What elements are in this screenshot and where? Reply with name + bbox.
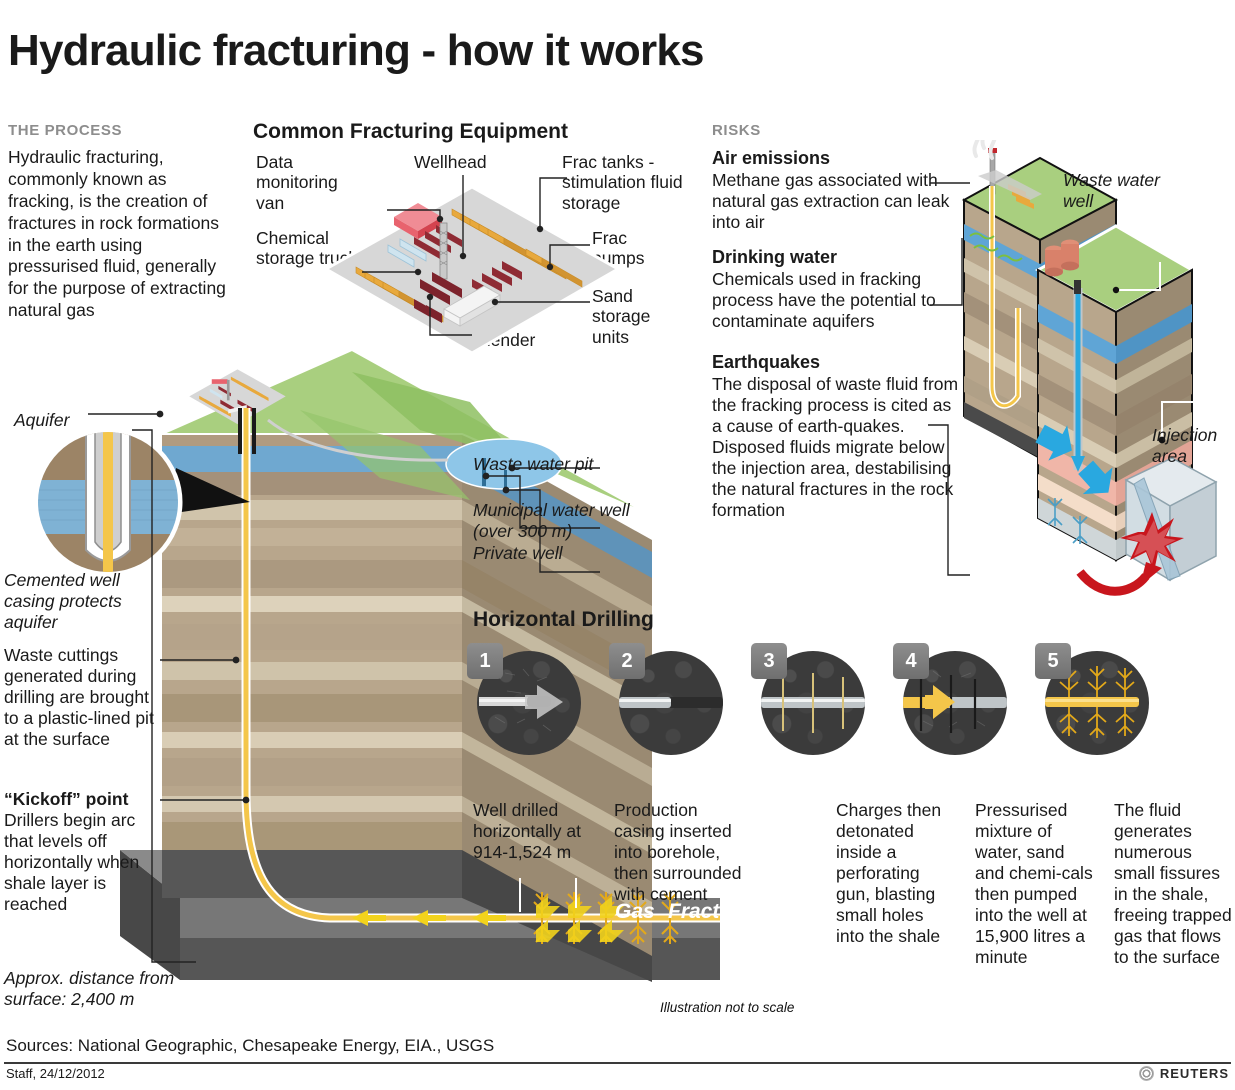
risk-earthquakes: Earthquakes The disposal of waste fluid … [712,352,964,521]
process-body: Hydraulic fracturing, commonly known as … [8,147,226,322]
risks-section: RISKS Air emissions Methane gas associat… [712,122,964,535]
kickoff-body: Drillers begin arc that levels off horiz… [4,810,139,914]
label-private-well: Private well [473,543,562,564]
drilling-step-2-figure: 2 [609,643,721,755]
scale-note: Illustration not to scale [660,1000,794,1015]
risk-body: Methane gas associated with natural gas … [712,170,964,233]
label-approx-distance: Approx. distance from surface: 2,400 m [4,968,214,1010]
process-kicker: THE PROCESS [8,122,226,139]
reuters-wordmark: REUTERS [1160,1066,1229,1081]
label-aquifer: Aquifer [14,410,69,431]
risk-3d-blocks-illustration [930,140,1235,630]
label-wellhead: Wellhead [414,152,487,172]
staff-credit: Staff, 24/12/2012 [6,1066,105,1081]
step-3-number: 3 [751,643,787,679]
sources-line: Sources: National Geographic, Chesapeake… [6,1036,494,1056]
label-waste-water-well: Waste water well [1063,170,1168,212]
step-1-number: 1 [467,643,503,679]
risk-title: Drinking water [712,247,964,268]
risk-body: Chemicals used in fracking process have … [712,269,964,332]
step-1-caption: Well drilled horizontally at 914-1,524 m [473,800,591,863]
risk-body: The disposal of waste fluid from the fra… [712,374,964,521]
equipment-heading: Common Fracturing Equipment [253,120,568,144]
label-waste-water-pit: Waste water pit [473,454,593,475]
drilling-step-5-figure: 5 [1035,643,1147,755]
step-2-caption: Production casing inserted into borehole… [614,800,744,905]
risk-title: Air emissions [712,148,964,169]
process-section: THE PROCESS Hydraulic fracturing, common… [8,122,226,322]
step-4-number: 4 [893,643,929,679]
reuters-logo: REUTERS [1139,1066,1229,1081]
risk-air-emissions: Air emissions Methane gas associated wit… [712,148,964,233]
equipment-site-illustration [322,183,622,358]
kickoff-title: “Kickoff” point [4,789,128,809]
label-kickoff-point: “Kickoff” point Drillers begin arc that … [4,789,164,915]
label-waste-cuttings: Waste cuttings generated during drilling… [4,645,154,750]
risks-kicker: RISKS [712,122,964,139]
footer-divider [4,1062,1231,1064]
label-cemented-well-casing: Cemented well casing protects aquifer [4,570,139,633]
label-injection-area: Injection area [1152,425,1232,467]
risk-title: Earthquakes [712,352,964,373]
drilling-step-1-figure: 1 [467,643,579,755]
label-municipal-water-well: Municipal water well (over 300 m) [473,500,673,542]
drilling-step-3-figure: 3 [751,643,863,755]
step-3-caption: Charges then detonated inside a perforat… [836,800,954,947]
horizontal-drilling-heading: Horizontal Drilling [473,608,654,632]
risk-drinking-water: Drinking water Chemicals used in frackin… [712,247,964,332]
step-2-number: 2 [609,643,645,679]
page-title: Hydraulic fracturing - how it works [8,26,704,76]
step-4-caption: Pressurised mixture of water, sand and c… [975,800,1093,968]
drilling-step-4-figure: 4 [893,643,1005,755]
step-5-caption: The fluid generates numerous small fissu… [1114,800,1232,968]
reuters-globe-icon [1139,1066,1154,1081]
infographic-page: Hydraulic fracturing - how it works THE … [0,0,1235,1090]
step-5-number: 5 [1035,643,1071,679]
